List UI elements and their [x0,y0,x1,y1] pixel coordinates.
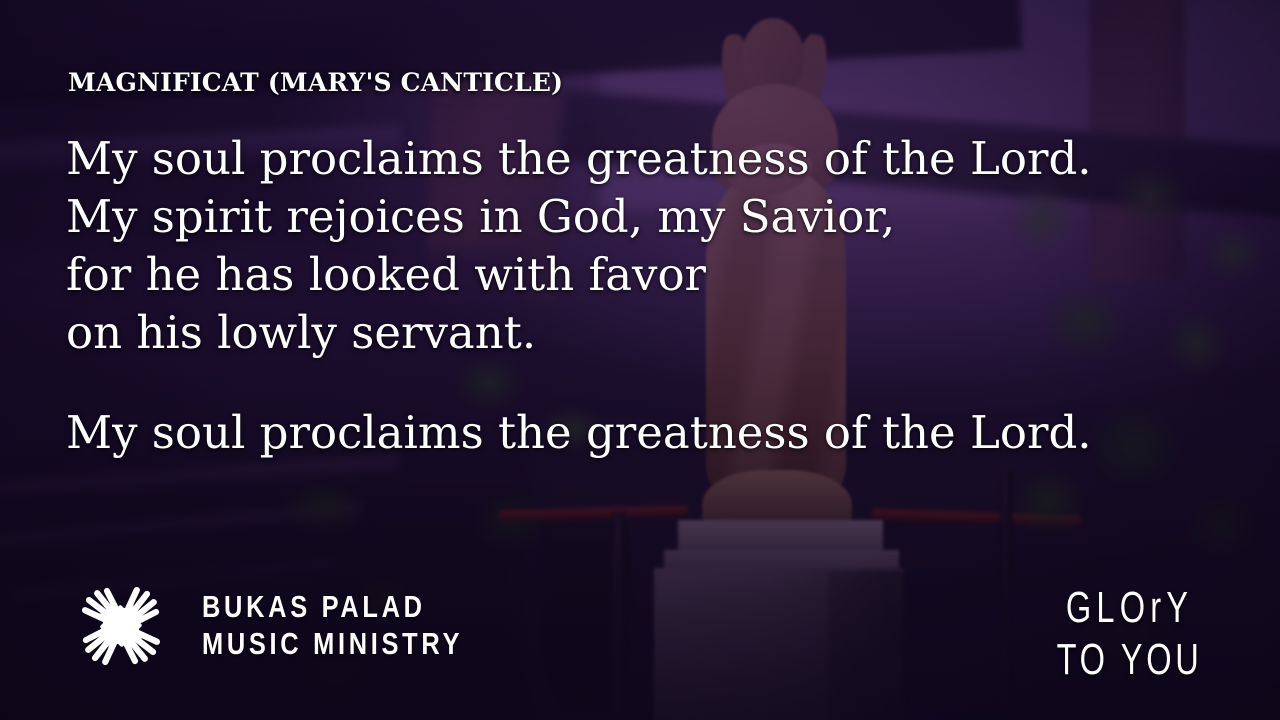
bukas-palad-logo: BUKAS PALAD MUSIC MINISTRY [62,572,520,680]
lyrics-stanza: My soul proclaims the greatness of the L… [66,404,1166,462]
logo-line-secondary: MUSIC MINISTRY [202,627,463,660]
logo-wordmark: BUKAS PALAD MUSIC MINISTRY [202,590,520,662]
song-title: MAGNIFICAT (MARY'S CANTICLE) [68,68,563,97]
slide-content: MAGNIFICAT (MARY'S CANTICLE) My soul pro… [0,0,1280,720]
lyrics-block: My soul proclaims the greatness of the L… [66,130,1166,462]
four-open-hands-cross-icon [62,572,180,680]
logo-line-primary: BUKAS PALAD [202,590,463,623]
lyric-line: My soul proclaims the greatness of the L… [66,404,1166,462]
lyric-line: for he has looked with favor [66,246,1166,304]
lyrics-stanza: My soul proclaims the greatness of the L… [66,130,1166,362]
lyric-line: My soul proclaims the greatness of the L… [66,130,1166,188]
glory-line-2: TO YOU [1057,636,1203,684]
lyric-line: on his lowly servant. [66,304,1166,362]
lyric-slide: MAGNIFICAT (MARY'S CANTICLE) My soul pro… [0,0,1280,720]
glory-line-1: GLOrY [1057,584,1203,632]
glory-to-you-lockup: GLOrY TO YOU [1031,584,1228,684]
lyric-line: My spirit rejoices in God, my Savior, [66,188,1166,246]
